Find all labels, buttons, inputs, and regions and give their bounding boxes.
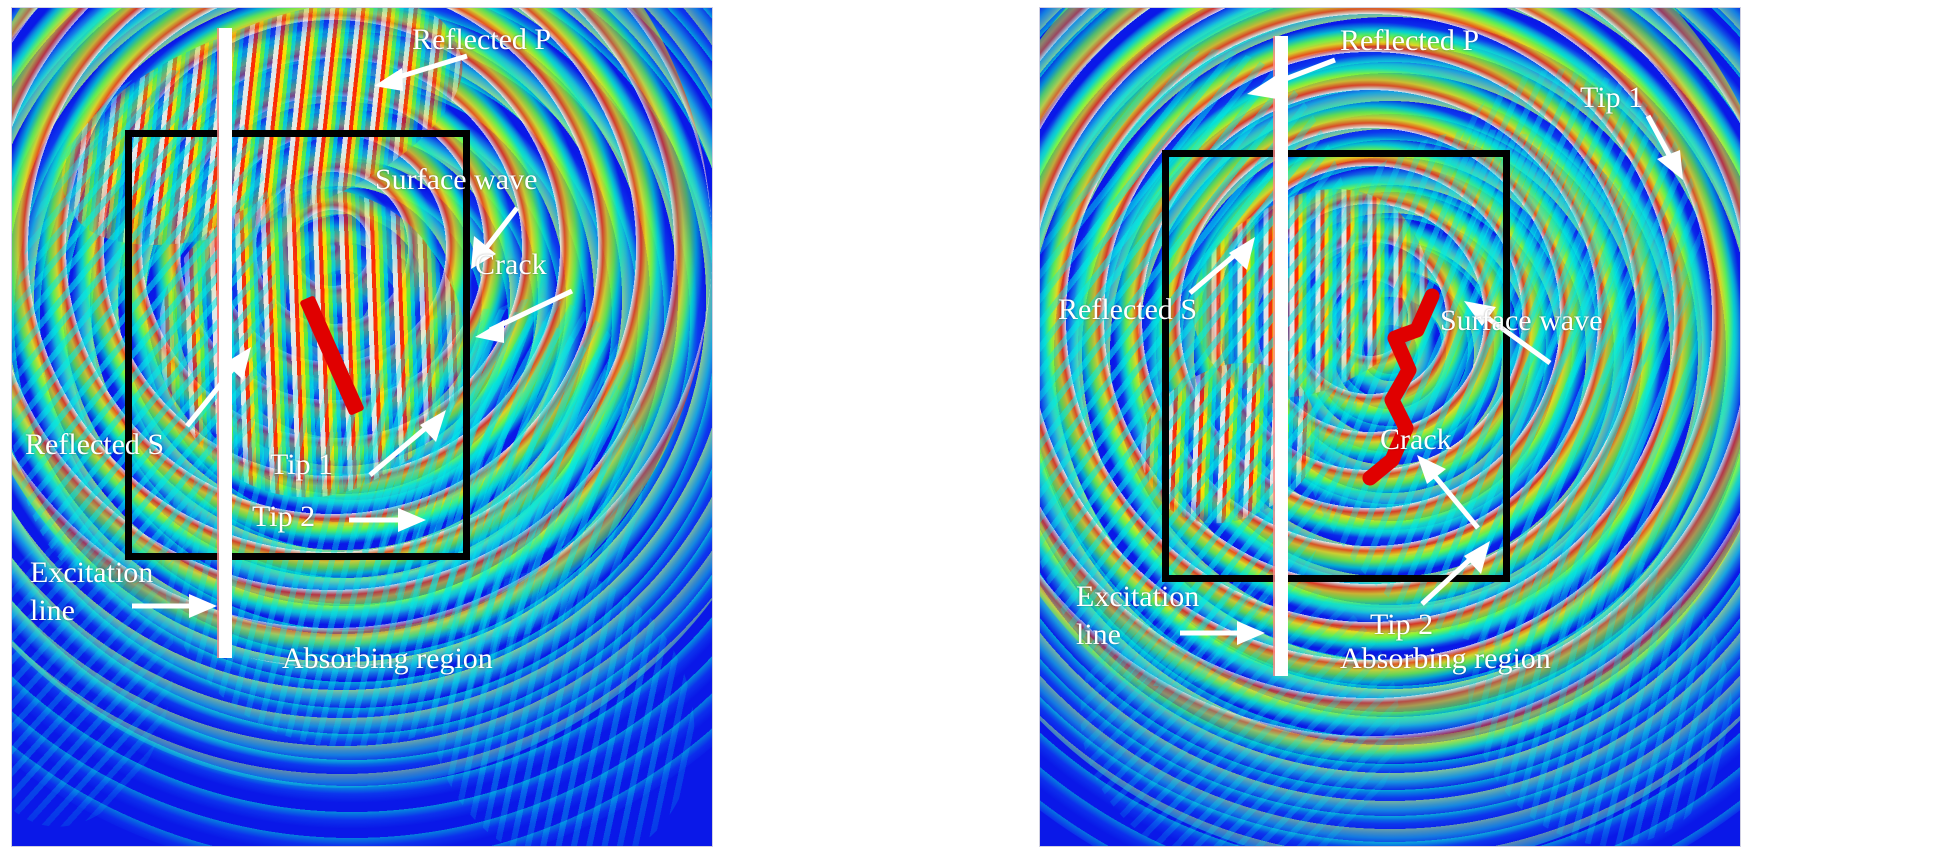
label-tip1-right: Tip 1 xyxy=(1580,81,1643,115)
label-crack-left: Crack xyxy=(475,248,547,282)
label-surface-wave-left: Surface wave xyxy=(375,163,537,197)
label-tip1-left: Tip 1 xyxy=(270,448,333,482)
label-excitation-line-1-right: Excitation xyxy=(1076,580,1199,614)
excitation-line-left xyxy=(219,28,232,658)
label-reflected-s-left: Reflected S xyxy=(25,428,164,462)
label-excitation-line-2-left: line xyxy=(30,594,75,628)
label-excitation-line-2-right: line xyxy=(1076,618,1121,652)
label-crack-right: Crack xyxy=(1380,423,1452,457)
panel-left: Reflected P Surface wave Crack Reflected… xyxy=(12,8,712,846)
label-absorbing-region-right: Absorbing region xyxy=(1340,642,1551,676)
model-boundary-box-right xyxy=(1162,150,1510,582)
label-absorbing-region-left: Absorbing region xyxy=(282,642,493,676)
figure-stage: Reflected P Surface wave Crack Reflected… xyxy=(0,0,1934,854)
label-reflected-p-right: Reflected P xyxy=(1340,24,1479,58)
label-excitation-line-1-left: Excitation xyxy=(30,556,153,590)
label-surface-wave-right: Surface wave xyxy=(1440,304,1602,338)
excitation-line-right xyxy=(1275,36,1288,676)
panel-right: Reflected P Tip 1 Reflected S Surface wa… xyxy=(1040,8,1740,846)
label-reflected-s-right: Reflected S xyxy=(1058,293,1197,327)
label-tip2-right: Tip 2 xyxy=(1370,608,1433,642)
label-reflected-p-left: Reflected P xyxy=(412,23,551,57)
label-tip2-left: Tip 2 xyxy=(252,500,315,534)
